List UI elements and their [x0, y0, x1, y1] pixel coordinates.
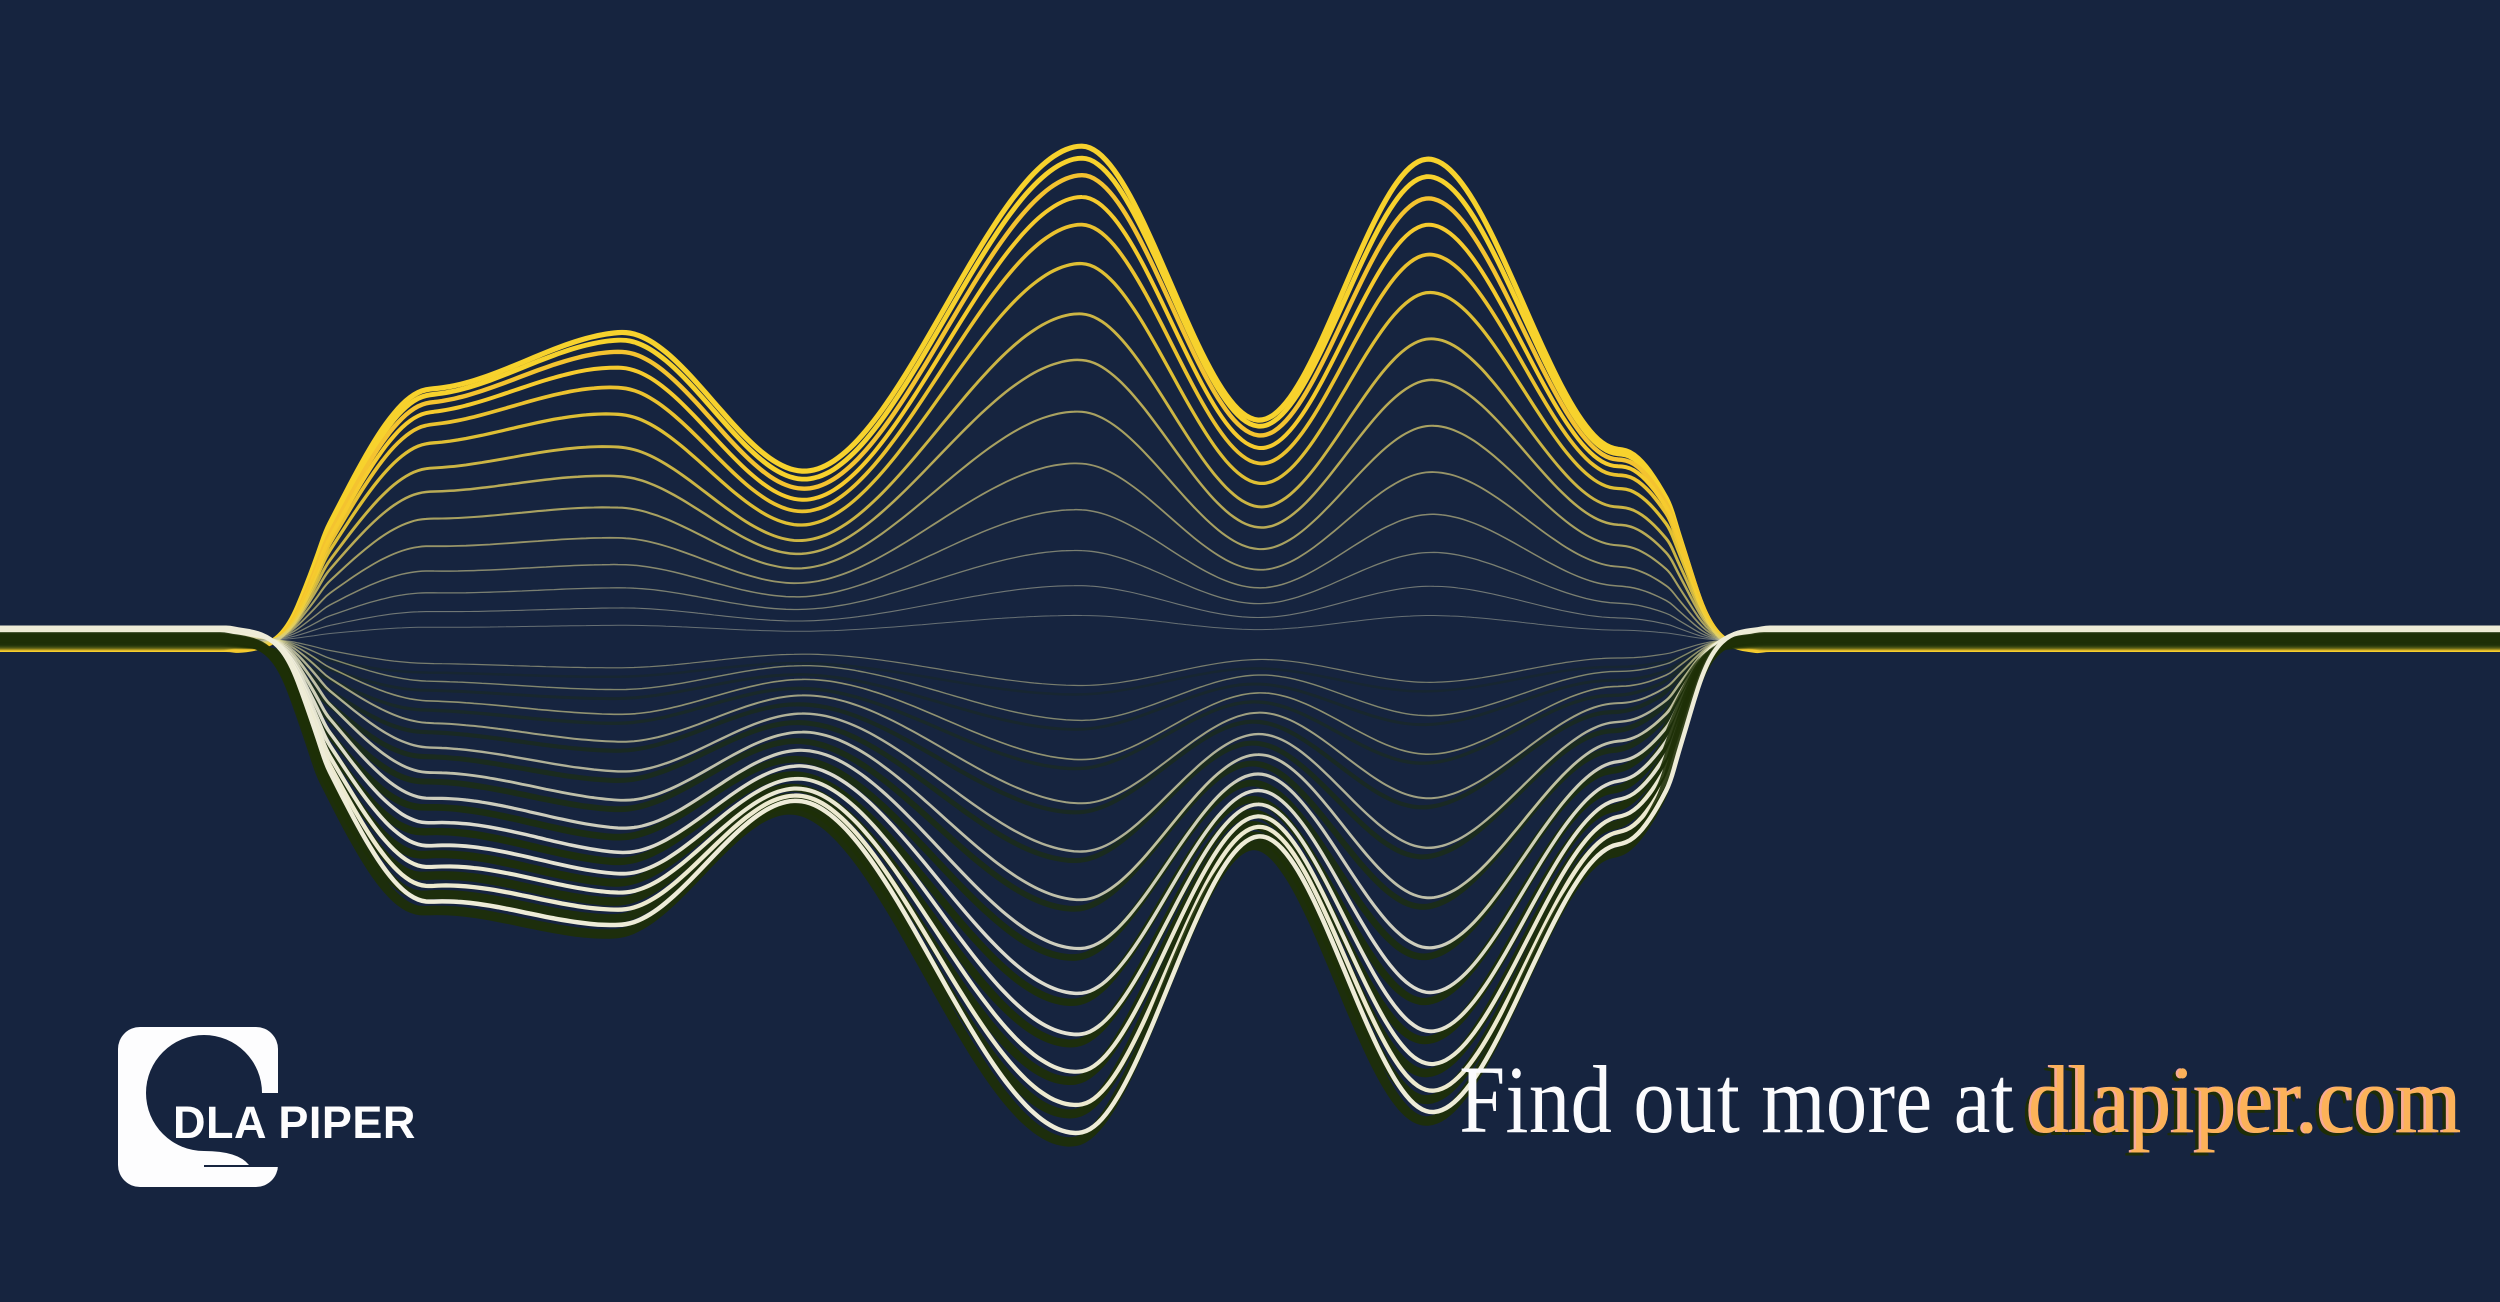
wave-line: [0, 158, 2500, 650]
tagline: Find out more atdlapiper.comdlapiper.com…: [1459, 1052, 2462, 1148]
brand-logo: DLA PIPER: [118, 1027, 718, 1187]
wave-line: [0, 146, 2500, 650]
wave-line: [0, 175, 2500, 650]
wave-line: [0, 510, 2500, 644]
wave-line-shadow: [0, 647, 2500, 769]
tagline-lead: Find out more at: [1459, 1046, 2014, 1153]
banner-canvas: DLA PIPER Find out more atdlapiper.comdl…: [0, 0, 2500, 1302]
brand-wordmark: DLA PIPER: [173, 1100, 416, 1145]
tagline-url-main-layer: dlapiper.com: [2028, 1046, 2462, 1153]
tagline-url[interactable]: dlapiper.comdlapiper.comdlapiper.com: [2028, 1052, 2462, 1148]
